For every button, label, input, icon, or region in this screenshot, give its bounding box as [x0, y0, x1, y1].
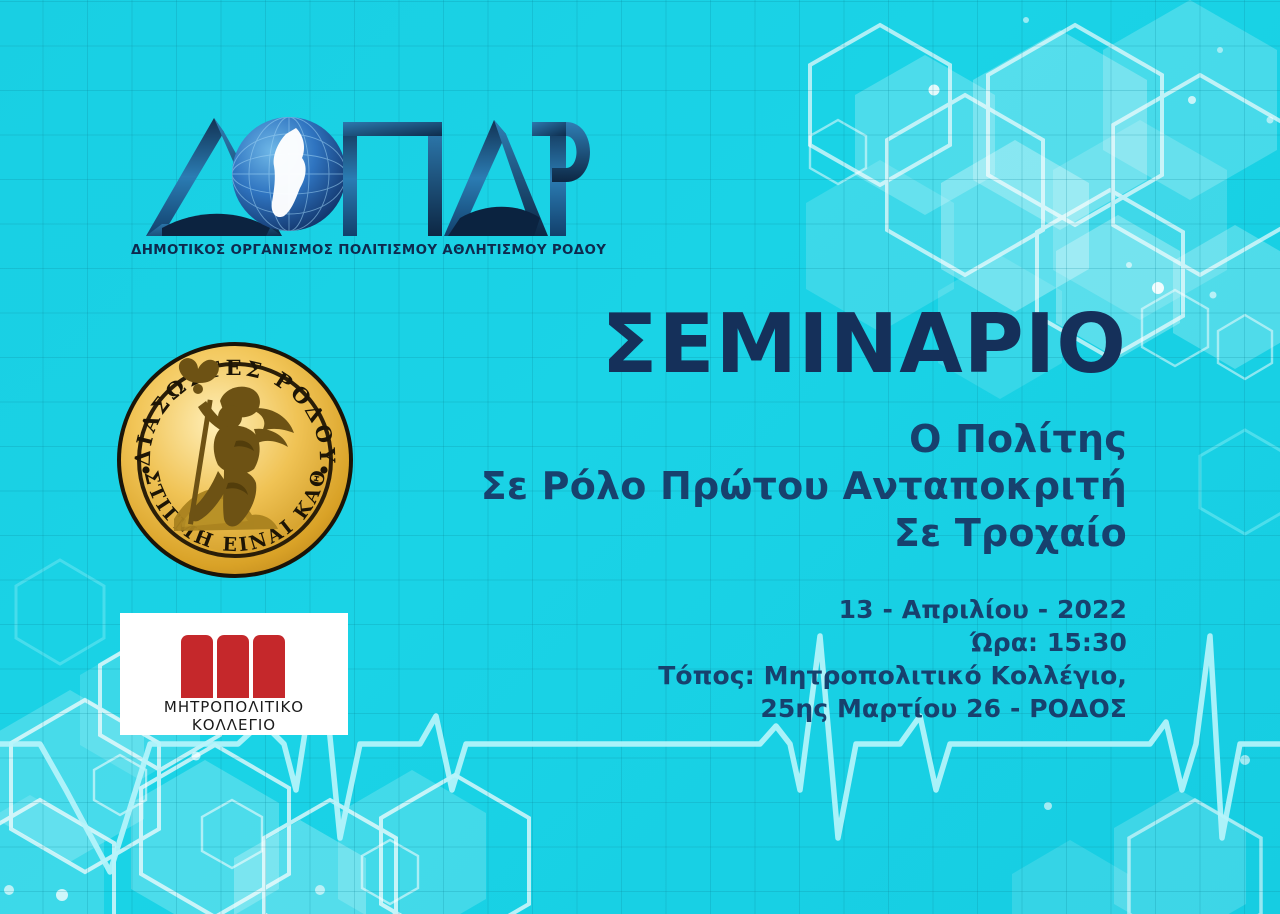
college-line2: ΚΟΛΛΕΓΙΟ: [192, 716, 276, 734]
dopar-subtitle: ΔΗΜΟΤΙΚΟΣ ΟΡΓΑΝΙΣΜΟΣ ΠΟΛΙΤΙΣΜΟΥ ΑΘΛΗΤΙΣΜ…: [131, 243, 593, 258]
rescuers-of-rhodes-emblem: ΔΙΑΣΩΣΤΕΣ ΡΟΔΟΥ ΚΑΘΕ ΣΤΙΓΜΗ ΕΙΝΑΙ ΚΑΘΗΚΟ…: [112, 337, 358, 583]
event-time: Ώρα: 15:30: [430, 626, 1127, 659]
poster-text-column: ΣΕΜΙΝΑΡΙΟ Ο Πολίτης Σε Ρόλο Πρώτου Ανταπ…: [430, 300, 1127, 725]
subtitle-line-3: Σε Τροχαίο: [430, 510, 1127, 557]
metropolitan-college-mark: ΜΗΤΡΟΠΟΛΙΤΙΚΟ ΚΟΛΛΕΓΙΟ: [120, 613, 348, 735]
event-details: 13 - Απριλίου - 2022 Ώρα: 15:30 Τόπος: Μ…: [430, 593, 1127, 725]
seminar-subtitle: Ο Πολίτης Σε Ρόλο Πρώτου Ανταποκριτή Σε …: [430, 416, 1127, 557]
subtitle-line-2: Σε Ρόλο Πρώτου Ανταποκριτή: [430, 463, 1127, 510]
page-title: ΣΕΜΙΝΑΡΙΟ: [430, 300, 1127, 390]
metropolitan-college-logo: ΜΗΤΡΟΠΟΛΙΤΙΚΟ ΚΟΛΛΕΓΙΟ: [120, 613, 348, 735]
subtitle-line-1: Ο Πολίτης: [430, 416, 1127, 463]
event-date: 13 - Απριλίου - 2022: [430, 593, 1127, 626]
event-venue-line-1: Τόπος: Μητροπολιτικό Κολλέγιο,: [430, 659, 1127, 692]
seminar-poster: ΔΗΜΟΤΙΚΟΣ ΟΡΓΑΝΙΣΜΟΣ ΠΟΛΙΤΙΣΜΟΥ ΑΘΛΗΤΙΣΜ…: [0, 0, 1280, 914]
event-venue-line-2: 25ης Μαρτίου 26 - ΡΟΔΟΣ: [430, 692, 1127, 725]
college-line1: ΜΗΤΡΟΠΟΛΙΤΙΚΟ: [164, 698, 304, 716]
college-bars-icon: [181, 635, 285, 698]
